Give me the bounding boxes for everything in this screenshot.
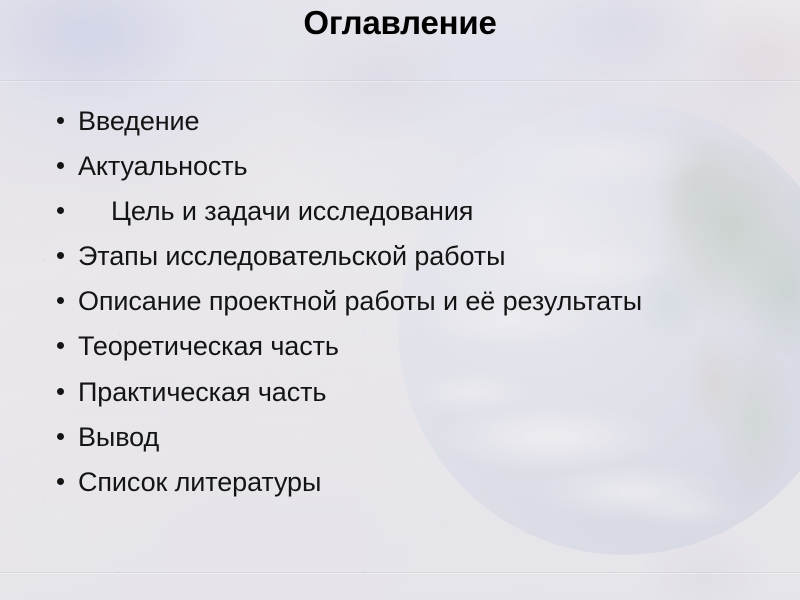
bullet-icon	[57, 297, 64, 304]
list-item[interactable]: Теоретическая часть	[52, 329, 652, 364]
bullet-icon	[57, 162, 64, 169]
list-item-label: Список литературы	[78, 467, 321, 497]
presentation-slide: Оглавление ВведениеАктуальностьЦель и за…	[0, 0, 800, 600]
list-item[interactable]: Введение	[52, 104, 652, 139]
bullet-icon	[57, 342, 64, 349]
list-item[interactable]: Практическая часть	[52, 375, 652, 410]
list-item-label: Актуальность	[78, 151, 248, 181]
list-item-label: Цель и задачи исследования	[78, 196, 473, 226]
list-item[interactable]: Вывод	[52, 420, 652, 455]
list-item[interactable]: Цель и задачи исследования	[52, 194, 652, 229]
bullet-icon	[57, 388, 64, 395]
list-item[interactable]: Этапы исследовательской работы	[52, 239, 652, 274]
list-item-label: Практическая часть	[78, 377, 326, 407]
list-item[interactable]: Список литературы	[52, 465, 652, 500]
slide-content: Оглавление ВведениеАктуальностьЦель и за…	[0, 0, 800, 600]
list-item-label: Этапы исследовательской работы	[78, 241, 505, 271]
list-item-label: Теоретическая часть	[78, 331, 339, 361]
bullet-icon	[57, 207, 64, 214]
list-item-label: Вывод	[78, 422, 159, 452]
table-of-contents-list: ВведениеАктуальностьЦель и задачи исслед…	[52, 104, 652, 500]
bullet-icon	[57, 433, 64, 440]
bullet-icon	[57, 252, 64, 259]
list-item[interactable]: Описание проектной работы и её результат…	[52, 284, 668, 319]
page-title: Оглавление	[0, 4, 800, 43]
bullet-icon	[57, 478, 64, 485]
list-item-label: Введение	[78, 106, 199, 136]
list-item-label: Описание проектной работы и её результат…	[78, 286, 642, 316]
list-item[interactable]: Актуальность	[52, 149, 652, 184]
bullet-icon	[57, 117, 64, 124]
